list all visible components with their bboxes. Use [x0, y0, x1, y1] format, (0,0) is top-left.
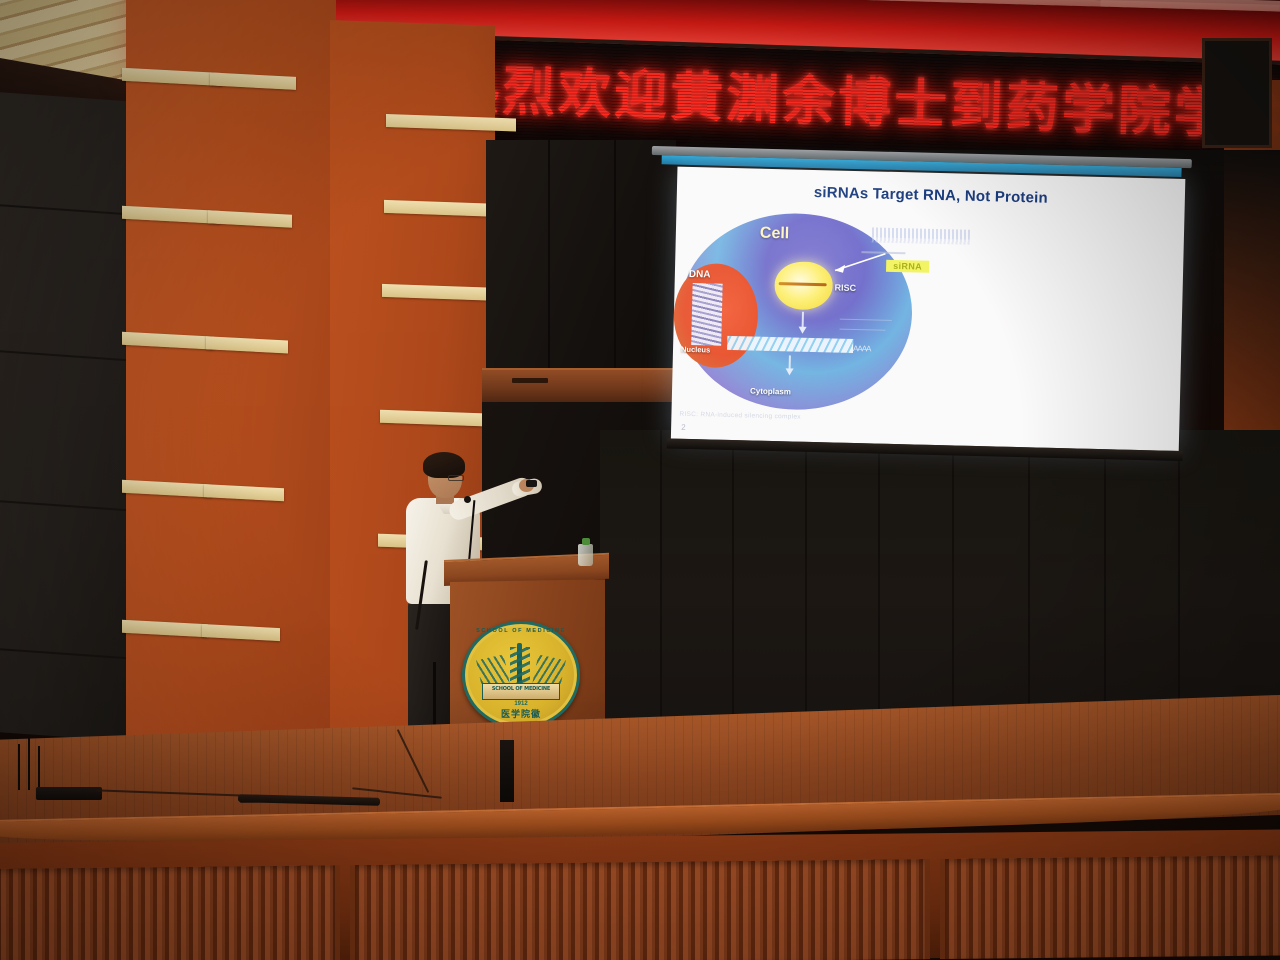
- auditorium-scene: 热烈欢迎黄渊余博士到药学院学术: [0, 0, 1280, 960]
- wall-column-left: [126, 0, 336, 751]
- slide-surface: siRNAs Target RNA, Not Protein Cell DNA …: [671, 167, 1185, 451]
- apron-slat-bay: [940, 855, 1280, 959]
- apron-slat-bay: [350, 859, 930, 960]
- emblem-arc-text: SCHOOL OF MEDICINE: [462, 628, 580, 634]
- laser-pointer-remote[interactable]: [526, 480, 537, 487]
- antenna-icon: [28, 738, 30, 790]
- antenna-icon: [18, 744, 20, 790]
- stage-equipment-left: [0, 748, 100, 806]
- wall-recess-upper-right: [1202, 38, 1272, 148]
- emblem-serpent-icon: [510, 647, 530, 687]
- antenna-icon: [38, 746, 40, 790]
- school-emblem: SCHOOL OF MEDICINE SCHOOL OF MEDICINE 19…: [462, 621, 580, 729]
- eyeglasses-icon: [448, 475, 464, 481]
- sirna-arrow-icon: [825, 248, 888, 276]
- double-stranded-rna-icon-2: [872, 237, 970, 244]
- emblem-banner-text: SCHOOL OF MEDICINE: [483, 686, 559, 692]
- projection-screen: siRNAs Target RNA, Not Protein Cell DNA …: [645, 146, 1192, 459]
- risc-arrow-stem: [802, 312, 804, 328]
- translation-arrow-head: [785, 368, 793, 375]
- led-banner-text: 热烈欢迎黄渊余博士到药学院学术: [445, 64, 1280, 143]
- nucleus-label: Nucleus: [681, 345, 710, 355]
- apron-slat-bay: [0, 865, 340, 960]
- emblem-banner: SCHOOL OF MEDICINE: [482, 683, 560, 700]
- dna-label: DNA: [689, 269, 711, 281]
- dna-helix-icon: [691, 283, 723, 346]
- sirna-label: siRNA: [886, 260, 929, 273]
- stage-apron: [0, 829, 1280, 960]
- acoustic-panel-wall-left: [0, 92, 130, 741]
- cytoplasm-label: Cytoplasm: [750, 386, 791, 396]
- slide-footnote: RISC: RNA-induced silencing complex: [679, 411, 801, 421]
- ledge-vent-slot: [512, 378, 548, 383]
- microphone-head: [464, 496, 471, 503]
- water-bottle[interactable]: [578, 538, 593, 566]
- cell-label: Cell: [760, 225, 790, 244]
- slide-number: 2: [681, 423, 686, 432]
- translation-arrow-stem: [789, 355, 791, 369]
- stage-dark-post: [500, 740, 514, 802]
- risc-label: RISC: [834, 283, 856, 294]
- poly-a-tail-label: AAAA: [853, 344, 871, 353]
- slide-title: siRNAs Target RNA, Not Protein: [677, 181, 1185, 210]
- water-bottle-cap: [582, 538, 590, 545]
- water-bottle-body: [578, 544, 593, 566]
- risc-arrow-head: [798, 327, 806, 334]
- wireless-receiver-box: [36, 787, 102, 800]
- emblem-chinese-text: 医学院徽: [462, 707, 580, 720]
